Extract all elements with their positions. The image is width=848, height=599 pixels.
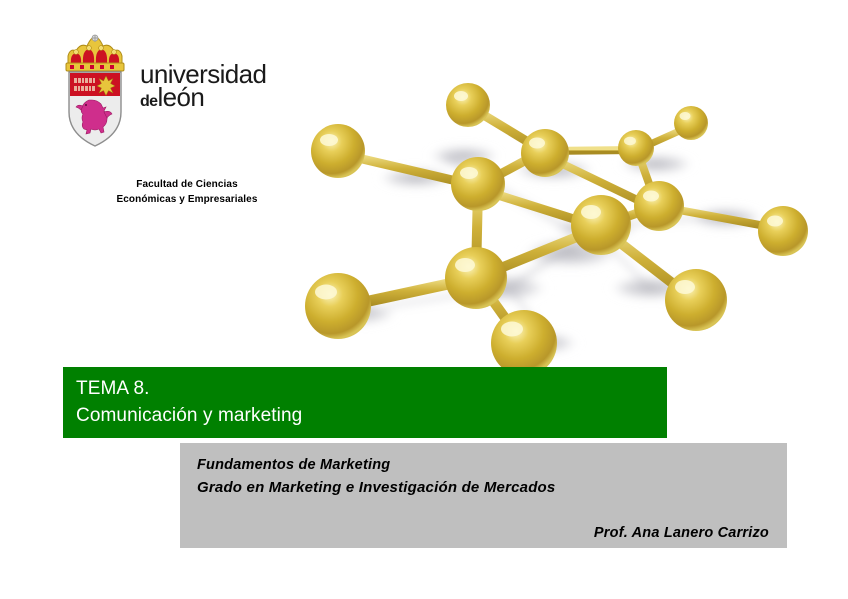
gold-sphere-network-illustration <box>296 38 820 368</box>
university-identity-block: universidad deleón <box>56 34 306 154</box>
instructor-name: Prof. Ana Lanero Carrizo <box>197 525 769 541</box>
course-name: Fundamentos de Marketing <box>197 454 769 476</box>
slide-title-banner: TEMA 8. Comunicación y marketing <box>63 367 667 438</box>
wordmark-de: de <box>140 93 157 110</box>
faculty-caption: Facultad de Ciencias Económicas y Empres… <box>62 178 312 207</box>
course-info-box: Fundamentos de Marketing Grado en Market… <box>180 443 787 548</box>
page-title-topic: TEMA 8. <box>76 376 667 403</box>
faculty-line-2: Económicas y Empresariales <box>62 193 312 208</box>
faculty-line-1: Facultad de Ciencias <box>62 178 312 193</box>
degree-program: Grado en Marketing e Investigación de Me… <box>197 476 769 499</box>
wordmark-leon: león <box>157 82 204 112</box>
presentation-slide: universidad deleón Facultad de Ciencias … <box>0 0 848 599</box>
page-title-subject: Comunicación y marketing <box>76 403 667 430</box>
university-wordmark: universidad deleón <box>140 61 310 110</box>
university-of-leon-coat-of-arms-icon <box>56 34 134 150</box>
